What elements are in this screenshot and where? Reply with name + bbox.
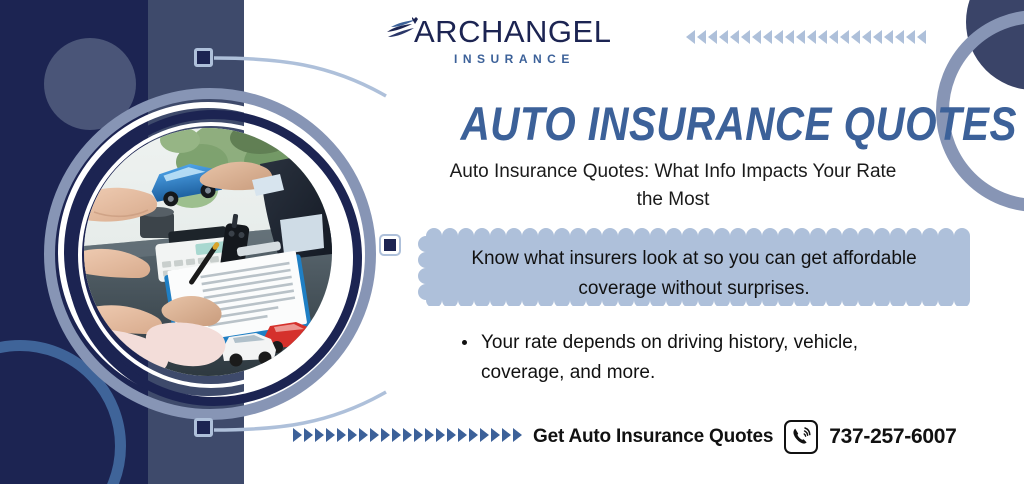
arrow-right-icon [315, 428, 324, 442]
arrow-right-icon [348, 428, 357, 442]
arrow-left-icon [708, 30, 717, 44]
arrow-right-icon [403, 428, 412, 442]
arrow-right-icon [370, 428, 379, 442]
arrow-left-icon [774, 30, 783, 44]
page-title: AUTO INSURANCE QUOTES [461, 96, 960, 152]
ring-accent-square [381, 236, 399, 254]
decorative-arrows-top-right [686, 30, 926, 44]
arrow-right-icon [359, 428, 368, 442]
arrow-right-icon [447, 428, 456, 442]
arrow-right-icon [326, 428, 335, 442]
callout-text: Know what insurers look at so you can ge… [446, 244, 942, 304]
cta-label: Get Auto Insurance Quotes [533, 426, 773, 448]
arrow-left-icon [840, 30, 849, 44]
arrow-right-icon [414, 428, 423, 442]
arrow-left-icon [730, 30, 739, 44]
arrow-right-icon [381, 428, 390, 442]
arrow-left-icon [884, 30, 893, 44]
list-item: Your rate depends on driving history, ve… [462, 328, 922, 388]
arrow-left-icon [763, 30, 772, 44]
arrow-left-icon [719, 30, 728, 44]
arrow-right-icon [480, 428, 489, 442]
hero-photo [84, 128, 332, 376]
arrow-left-icon [741, 30, 750, 44]
connector-square-top [194, 48, 213, 67]
cta-phone-number[interactable]: 737-257-6007 [829, 425, 956, 449]
arrow-left-icon [917, 30, 926, 44]
arrow-right-icon [502, 428, 511, 442]
arrow-left-icon [785, 30, 794, 44]
infographic-canvas: ARCHANGEL INSURANCE AUTO INSURANCE QUOTE… [0, 0, 1024, 484]
brand-logo[interactable]: ARCHANGEL INSURANCE [388, 14, 568, 70]
arrow-left-icon [752, 30, 761, 44]
page-subtitle: Auto Insurance Quotes: What Info Impacts… [438, 158, 908, 214]
arrow-right-icon [458, 428, 467, 442]
connector-square-bottom [194, 418, 213, 437]
arrow-right-icon [293, 428, 302, 442]
arrow-right-icon [436, 428, 445, 442]
arrow-right-icon [491, 428, 500, 442]
arrow-left-icon [862, 30, 871, 44]
callout-box: Know what insurers look at so you can ge… [418, 228, 970, 306]
arrow-left-icon [829, 30, 838, 44]
arrow-left-icon [818, 30, 827, 44]
decorative-arrows-bottom-left [293, 428, 522, 442]
arrow-right-icon [337, 428, 346, 442]
arrow-right-icon [304, 428, 313, 442]
arrow-left-icon [697, 30, 706, 44]
bullet-text: Your rate depends on driving history, ve… [481, 328, 922, 388]
arrow-right-icon [513, 428, 522, 442]
arrow-right-icon [392, 428, 401, 442]
arrow-left-icon [895, 30, 904, 44]
arrow-left-icon [906, 30, 915, 44]
arrow-right-icon [425, 428, 434, 442]
arrow-left-icon [796, 30, 805, 44]
bullet-dot-icon [462, 340, 467, 345]
arrow-left-icon [686, 30, 695, 44]
arrow-right-icon [469, 428, 478, 442]
logo-wordmark: ARCHANGEL [414, 14, 611, 50]
arrow-left-icon [807, 30, 816, 44]
phone-ringing-icon[interactable] [784, 420, 818, 454]
arrow-left-icon [851, 30, 860, 44]
cta-row[interactable]: Get Auto Insurance Quotes 737-257-6007 [533, 420, 956, 454]
logo-subtitle: INSURANCE [454, 52, 575, 66]
arrow-left-icon [873, 30, 882, 44]
